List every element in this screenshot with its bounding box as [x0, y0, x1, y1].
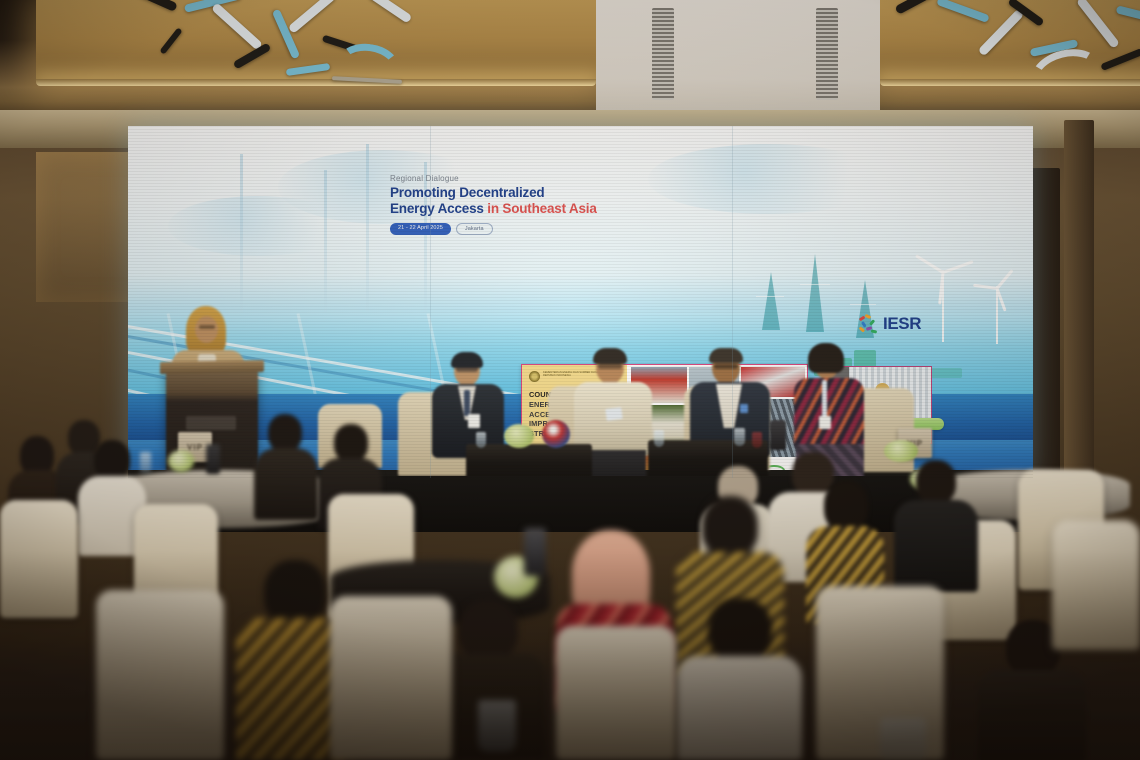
event-badges: 21 - 22 April 2025 Jakarta: [390, 223, 810, 235]
table-flowers: [884, 440, 918, 462]
audience-hair: [458, 600, 518, 660]
backdrop-tower: [366, 144, 369, 322]
podium-hotel-logo: [186, 416, 236, 430]
speaker-face: [195, 316, 218, 343]
panelist-1-tie: [464, 390, 470, 416]
event-title-line2: Energy Access in Southeast Asia: [390, 201, 810, 217]
tower-crossarm: [850, 304, 876, 305]
turbine-blade: [996, 269, 1014, 289]
panelist-2-hair: [593, 348, 627, 364]
vip-sign-left-label: VIP: [187, 443, 203, 452]
banquet-chair: [556, 626, 676, 760]
air-vent: [652, 8, 674, 100]
glassware-cluster: [880, 718, 926, 760]
water-carafe: [524, 528, 546, 576]
chandelier-limb: [1076, 0, 1120, 49]
chandelier-limb: [286, 63, 331, 76]
panelist-1-hair: [451, 352, 483, 368]
backdrop-tower: [324, 170, 327, 322]
ceiling-light-panel-left: [36, 0, 596, 86]
turbine-blade: [973, 284, 997, 290]
chandelier-limb: [936, 0, 989, 23]
panelist-4-badge: [819, 416, 831, 429]
audience-body: [894, 500, 978, 592]
speaker-glasses-icon: [199, 325, 215, 329]
event-date-badge: 21 - 22 April 2025: [390, 223, 451, 235]
drinking-glass: [476, 432, 486, 448]
audience-hair: [94, 440, 130, 480]
panelist-4-blouse: [794, 378, 864, 450]
sky-cloud: [168, 196, 348, 256]
audience-body: [676, 656, 802, 760]
ceiling-light-panel-right: [880, 0, 1140, 86]
audience-body: [978, 670, 1086, 760]
event-location-badge: Jakarta: [456, 223, 493, 235]
ceiling: [0, 0, 1140, 118]
panelist-1-lanyard-badge: [468, 414, 480, 428]
conference-photo-scene: Regional Dialogue Promoting Decentralize…: [0, 0, 1140, 760]
audience-hair: [268, 414, 302, 452]
event-title-line1: Promoting Decentralized: [390, 185, 810, 201]
banquet-chair: [96, 590, 224, 760]
chandelier-limb: [368, 0, 413, 24]
banquet-chair: [330, 596, 452, 760]
banquet-chair: [1052, 520, 1140, 650]
turbine-blade: [942, 260, 973, 274]
chandelier-limb: [1116, 5, 1140, 22]
tower-crossarm: [756, 296, 784, 297]
drinking-glass: [734, 428, 745, 446]
iesr-wordmark: IESR: [883, 314, 921, 334]
water-bottle: [206, 444, 220, 474]
air-vent: [816, 8, 838, 100]
ships-wheel-decor: [542, 420, 570, 448]
chandelier-limb: [288, 0, 337, 34]
audience-member: [254, 414, 320, 518]
audience-hair: [916, 460, 956, 504]
chandelier-limb: [894, 0, 937, 15]
ministry-seal-icon: [529, 371, 540, 382]
chandelier-limb: [272, 9, 300, 60]
chandelier-limb: [211, 2, 263, 50]
panelist-2-papers: [605, 407, 623, 421]
table-flowers: [168, 450, 194, 472]
drinking-glass: [654, 430, 664, 447]
iesr-mark-icon: [858, 314, 878, 334]
turbine-blade: [915, 254, 944, 274]
event-branding-block: Regional Dialogue Promoting Decentralize…: [390, 174, 810, 235]
banquet-chair: [0, 500, 78, 618]
event-title: Promoting Decentralized Energy Access in…: [390, 185, 810, 218]
iesr-logo: IESR: [858, 314, 921, 334]
panelist-3-hair: [709, 348, 743, 363]
event-kicker: Regional Dialogue: [390, 174, 810, 183]
panelist-4-lanyard: [822, 380, 827, 420]
audience-body: [254, 448, 318, 520]
led-panel-seam: [732, 126, 733, 478]
audience-hair: [824, 480, 868, 532]
audience-hair: [702, 496, 758, 558]
audience-member: [894, 460, 980, 590]
water-carafe: [770, 420, 786, 450]
panelist-3-lapel-pin: [740, 404, 748, 413]
chandelier-limb: [159, 27, 182, 54]
panelist-1-glasses-icon: [456, 367, 478, 372]
transmission-tower: [806, 254, 824, 332]
table-flowers: [504, 424, 534, 448]
audience-hair: [264, 560, 326, 626]
chandelier-limb: [1100, 48, 1140, 71]
wine-glass: [752, 432, 762, 448]
panelist-3-glasses-icon: [714, 364, 738, 369]
chandelier-limb: [132, 0, 178, 12]
led-panel-seam: [430, 126, 431, 478]
audience-member: [676, 598, 804, 760]
audience-hair: [334, 424, 368, 462]
panelist-4-hair: [808, 343, 844, 373]
drinking-glass: [478, 700, 516, 752]
backdrop-tower: [240, 154, 243, 322]
panelist-2-glasses-icon: [598, 364, 622, 369]
transmission-tower: [762, 272, 780, 330]
tower-crossarm: [800, 284, 830, 285]
cove-light-glow: [36, 79, 596, 86]
podium-lectern-top: [160, 360, 264, 374]
audience-hair: [708, 598, 772, 662]
